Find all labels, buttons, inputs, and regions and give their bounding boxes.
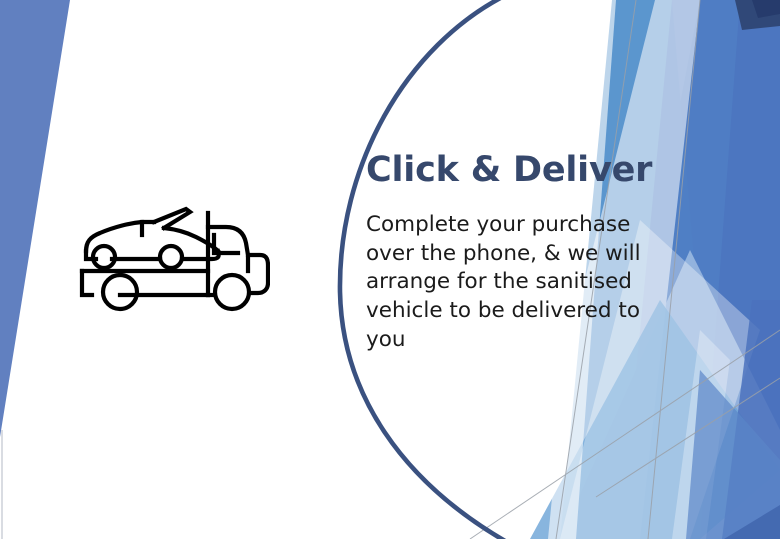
car-windscreen [154,209,190,228]
car-rear-wheel [160,246,182,268]
truck-cab-nose [248,255,268,293]
flatbed-tow-truck-carrying-car-icon [78,197,270,312]
text-block: Click & Deliver Complete your purchase o… [366,152,652,355]
content-layer: Click & Deliver Complete your purchase o… [0,0,780,539]
truck-front-wheel [215,275,249,309]
truck-bed-left-wall [82,271,92,295]
truck-rear-wheel [103,275,137,309]
truck-icon-container [78,197,270,312]
page-title: Click & Deliver [366,152,652,189]
slide-canvas: Click & Deliver Complete your purchase o… [0,0,780,539]
body-text: Complete your purchase over the phone, &… [366,211,652,355]
